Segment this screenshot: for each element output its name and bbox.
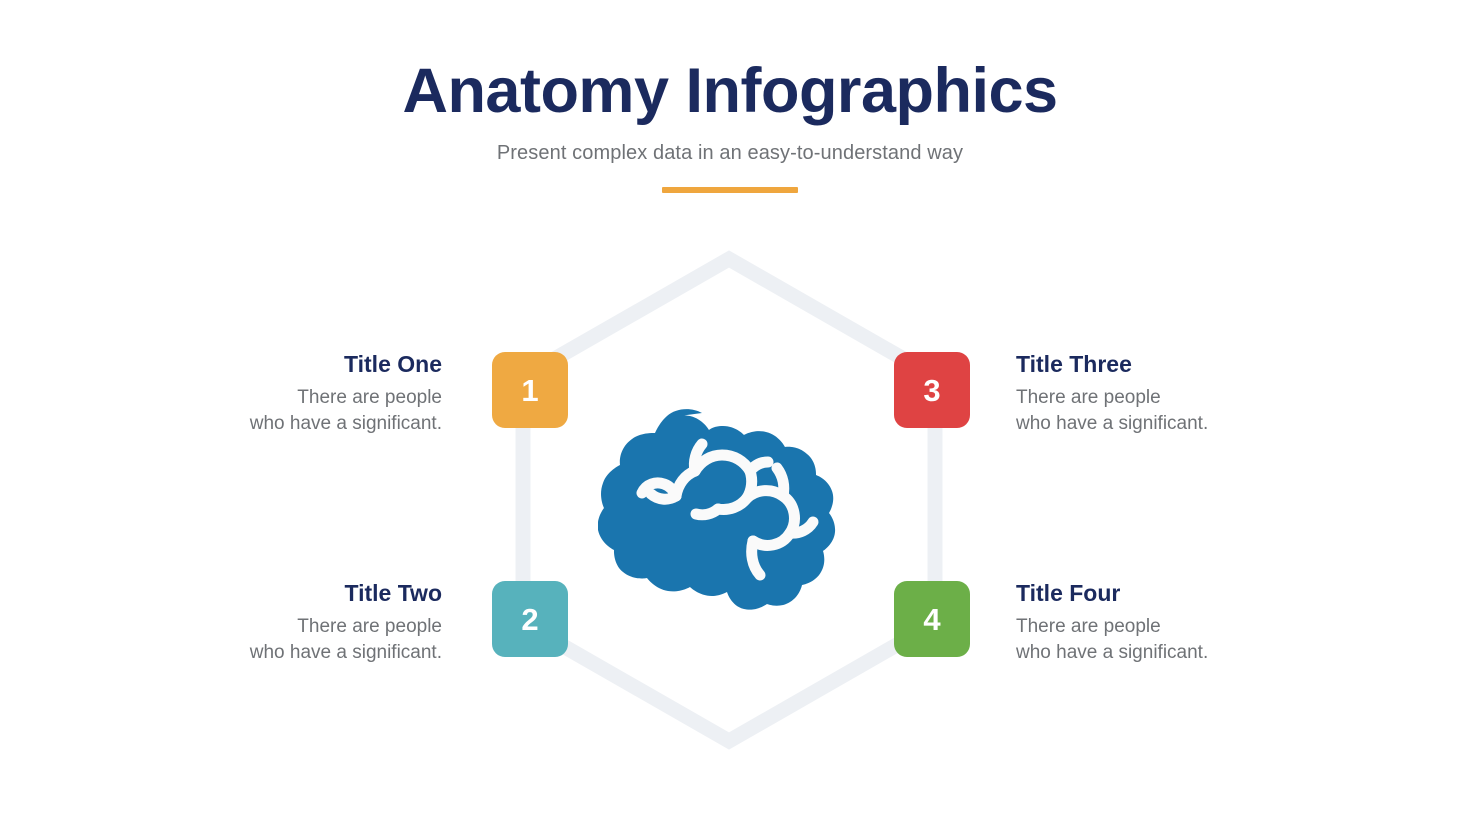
step-badge-4-number: 4 (923, 604, 940, 635)
step-badge-1[interactable]: 1 (492, 352, 568, 428)
item-description-1: There are people who have a significant. (112, 385, 442, 437)
hexagon-diagram: 1 2 3 4 Title One There are people who h… (0, 0, 1460, 821)
infographic-slide: Anatomy Infographics Present complex dat… (0, 0, 1460, 821)
step-badge-4[interactable]: 4 (894, 581, 970, 657)
step-badge-3-number: 3 (923, 375, 940, 406)
item-title-3: Title Three (1016, 351, 1346, 379)
item-block-4: Title Four There are people who have a s… (1016, 580, 1346, 666)
item-title-2: Title Two (112, 580, 442, 608)
item-block-2: Title Two There are people who have a si… (112, 580, 442, 666)
item-title-4: Title Four (1016, 580, 1346, 608)
item-description-3: There are people who have a significant. (1016, 385, 1346, 437)
item-title-1: Title One (112, 351, 442, 379)
brain-icon (598, 405, 866, 610)
step-badge-2-number: 2 (521, 604, 538, 635)
item-description-4: There are people who have a significant. (1016, 614, 1346, 666)
item-description-2: There are people who have a significant. (112, 614, 442, 666)
step-badge-3[interactable]: 3 (894, 352, 970, 428)
step-badge-1-number: 1 (521, 375, 538, 406)
item-block-3: Title Three There are people who have a … (1016, 351, 1346, 437)
item-block-1: Title One There are people who have a si… (112, 351, 442, 437)
step-badge-2[interactable]: 2 (492, 581, 568, 657)
